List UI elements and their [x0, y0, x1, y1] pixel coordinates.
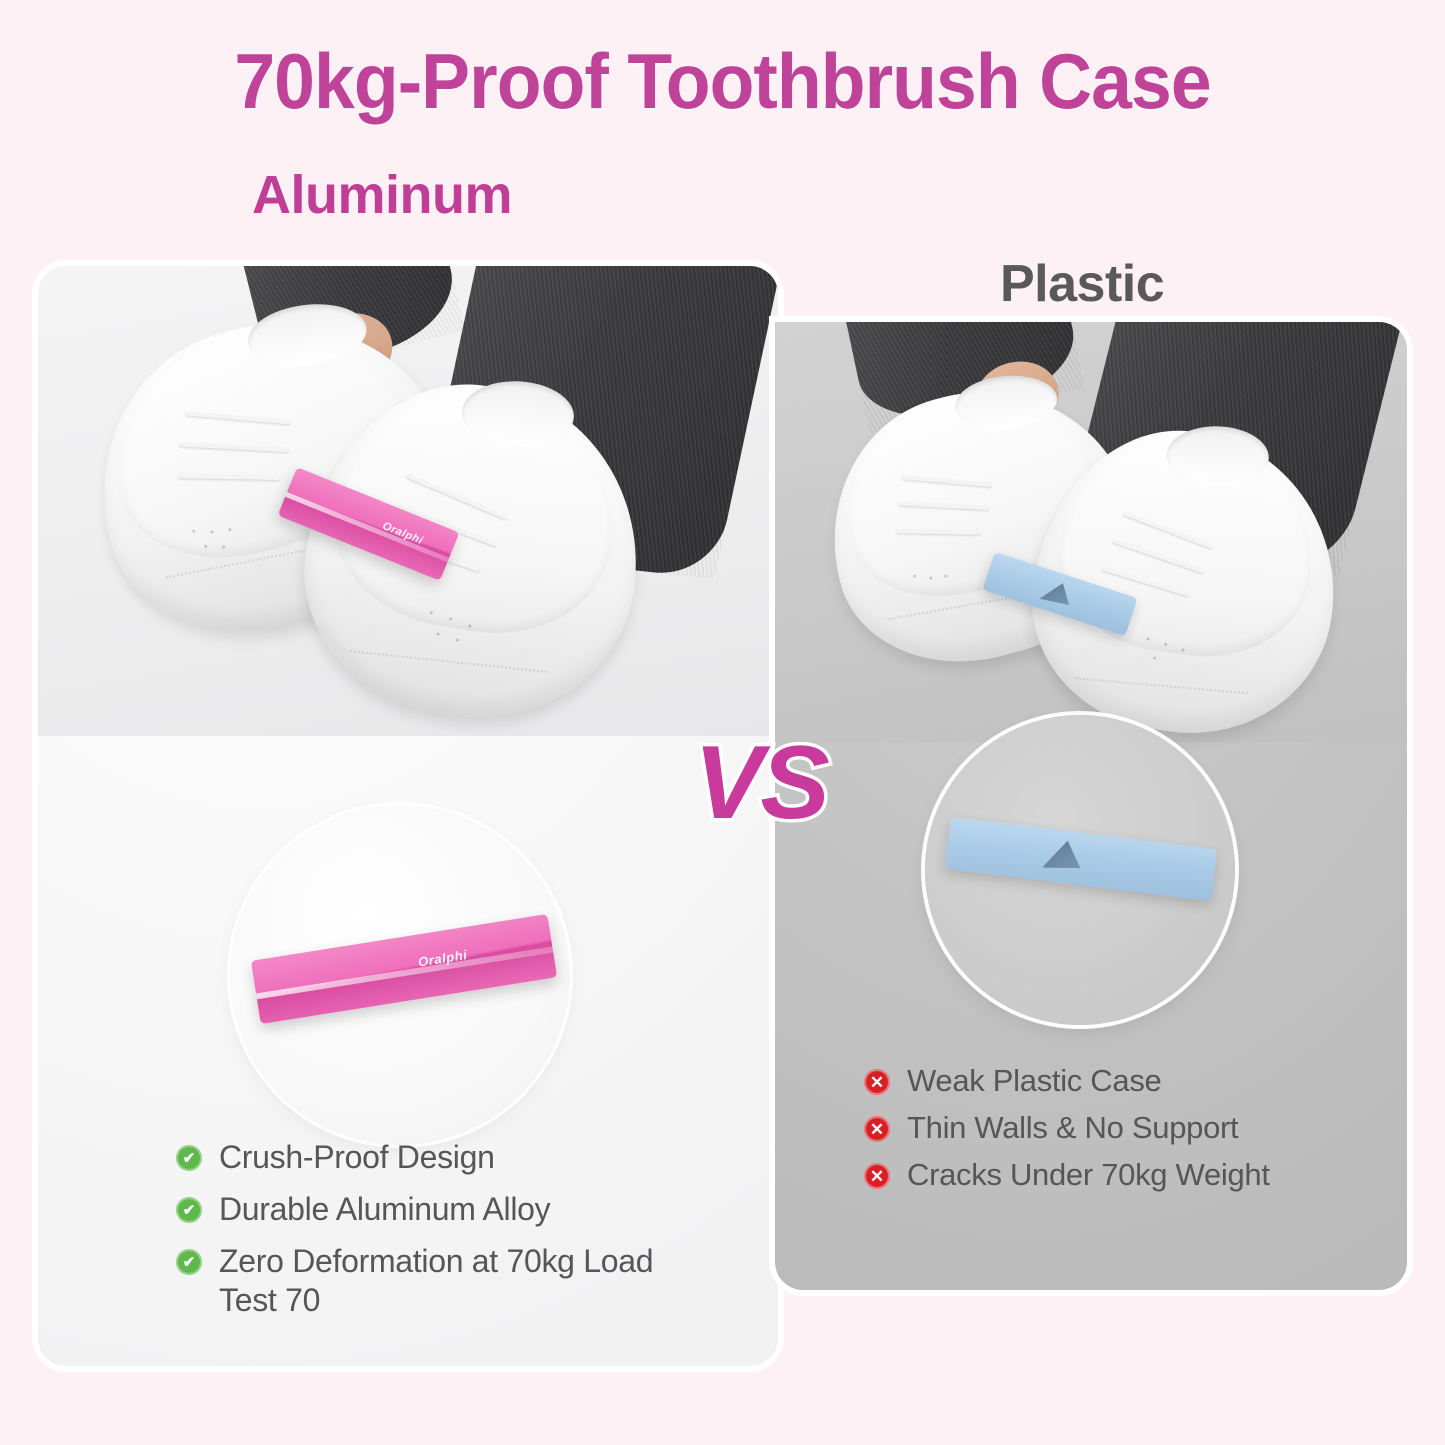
cross-circle-icon: ✕ — [864, 1116, 890, 1142]
shoe-perforation — [455, 638, 458, 641]
feature-label: Durable Aluminum Alloy — [219, 1190, 550, 1229]
list-item: ✕ Cracks Under 70kg Weight — [864, 1156, 1364, 1194]
list-item: ✕ Thin Walls & No Support — [864, 1109, 1364, 1147]
case-crack — [1040, 578, 1075, 608]
shoe-perforation — [468, 624, 471, 627]
aluminum-heading: Aluminum — [252, 164, 512, 226]
aluminum-product-photo: Oralphi — [38, 266, 778, 736]
check-glyph: ✔ — [176, 1197, 202, 1223]
plastic-product-photo — [775, 322, 1407, 742]
feature-label: Zero Deformation at 70kg Load Test 70 — [219, 1242, 696, 1320]
feature-label: Cracks Under 70kg Weight — [907, 1156, 1270, 1194]
plastic-case-inset — [925, 715, 1235, 1025]
feature-label: Crush-Proof Design — [219, 1138, 495, 1177]
plastic-heading: Plastic — [1000, 254, 1164, 314]
page-title: 70kg-Proof Toothbrush Case — [43, 38, 1401, 124]
check-glyph: ✔ — [176, 1145, 202, 1171]
sneaker-right — [284, 362, 662, 740]
check-circle-icon: ✔ — [176, 1197, 202, 1223]
feature-label: Thin Walls & No Support — [907, 1109, 1238, 1147]
infographic-stage: 70kg-Proof Toothbrush Case Aluminum Plas… — [0, 0, 1445, 1445]
aluminum-case-closeup: Oralphi — [251, 914, 557, 1024]
case-crack — [1042, 838, 1083, 872]
cross-circle-icon: ✕ — [864, 1069, 890, 1095]
check-circle-icon: ✔ — [176, 1249, 202, 1275]
case-highlight — [256, 947, 553, 1000]
cross-glyph: ✕ — [864, 1163, 890, 1189]
list-item: ✕ Weak Plastic Case — [864, 1062, 1364, 1100]
plastic-case-closeup — [945, 817, 1217, 901]
cross-glyph: ✕ — [864, 1116, 890, 1142]
aluminum-feature-list: ✔ Crush-Proof Design ✔ Durable Aluminum … — [176, 1138, 696, 1333]
feature-label: Weak Plastic Case — [907, 1062, 1161, 1100]
plastic-feature-list: ✕ Weak Plastic Case ✕ Thin Walls & No Su… — [864, 1062, 1364, 1203]
list-item: ✔ Zero Deformation at 70kg Load Test 70 — [176, 1242, 696, 1320]
check-glyph: ✔ — [176, 1249, 202, 1275]
list-item: ✔ Durable Aluminum Alloy — [176, 1190, 696, 1229]
check-circle-icon: ✔ — [176, 1145, 202, 1171]
cross-glyph: ✕ — [864, 1069, 890, 1095]
list-item: ✔ Crush-Proof Design — [176, 1138, 696, 1177]
aluminum-case-inset: Oralphi — [230, 805, 570, 1145]
cross-circle-icon: ✕ — [864, 1163, 890, 1189]
vs-badge: VS — [694, 731, 827, 835]
shoe-perforation — [436, 632, 439, 635]
